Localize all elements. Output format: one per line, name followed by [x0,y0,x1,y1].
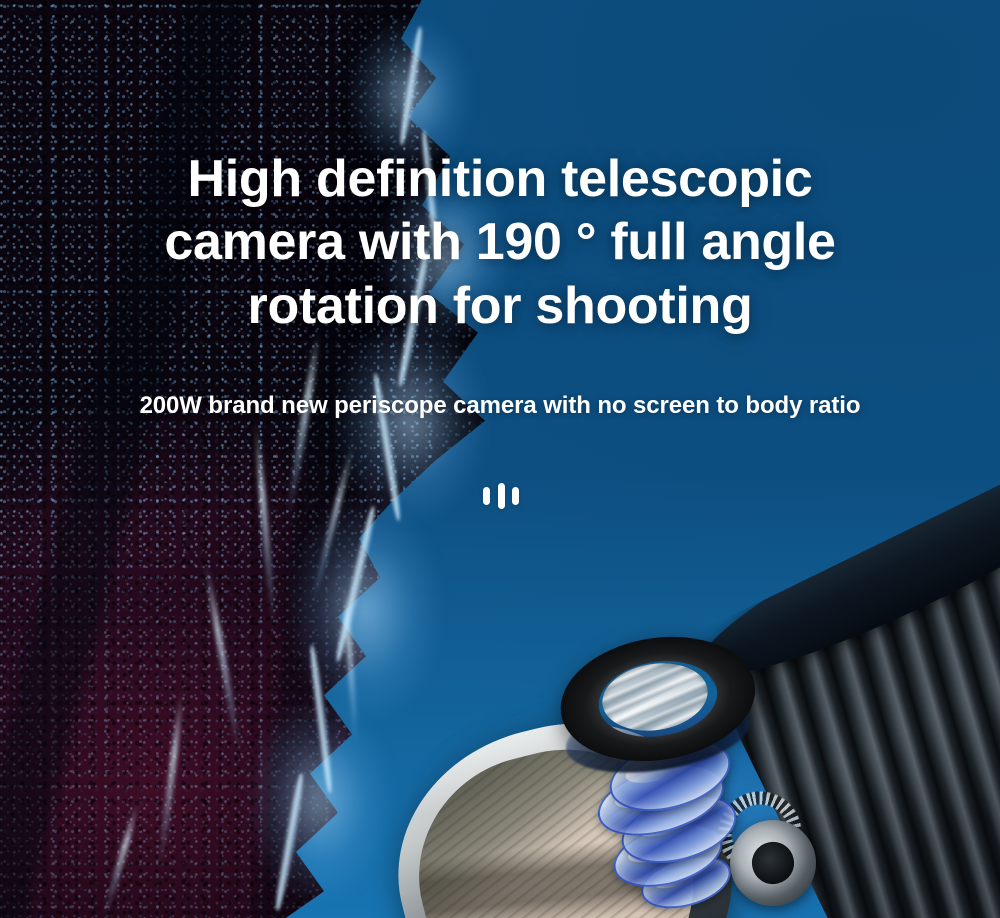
subheadline: 200W brand new periscope camera with no … [0,392,1000,420]
signal-bar-2 [498,483,505,509]
signal-bars-icon [483,481,519,511]
headline: High definition telescopic camera with 1… [0,148,1000,338]
signal-bar-3 [512,487,519,505]
product-banner: High definition telescopic camera with 1… [0,0,1000,918]
signal-bar-1 [483,487,490,505]
